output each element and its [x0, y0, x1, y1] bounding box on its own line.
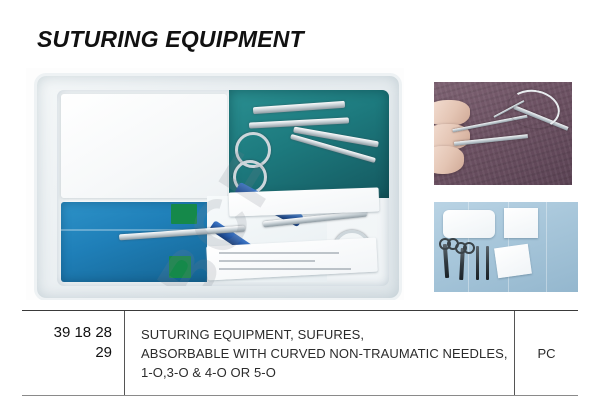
page-title: SUTURING EQUIPMENT: [37, 26, 304, 53]
description-line-3: 1-O,3-O & 4-O OR 5-O: [141, 363, 514, 382]
table-bottom-rule: [22, 395, 578, 396]
tray-shell: BCF: [34, 73, 402, 300]
kidney-dish: [443, 210, 495, 238]
gauze-square-lower: [494, 244, 532, 278]
scissors-ring-2b: [463, 242, 475, 254]
gauze-pad: [61, 94, 227, 198]
description-line-1: SUTURING EQUIPMENT, SUFURES,: [141, 325, 514, 344]
table-row: 39 18 28 29 SUTURING EQUIPMENT, SUFURES,…: [22, 311, 578, 395]
description-cell: SUTURING EQUIPMENT, SUFURES, ABSORBABLE …: [125, 311, 515, 395]
code-line-1: 39 18 28: [22, 323, 112, 343]
suturing-demonstration-photo: [434, 82, 572, 185]
forceps-2: [486, 246, 489, 280]
packet-text-line-1: [219, 252, 339, 254]
code-cell: 39 18 28 29: [22, 311, 125, 395]
indicator-chip-upper: [171, 204, 197, 224]
description-line-2: ABSORBABLE WITH CURVED NON-TRAUMATIC NEE…: [141, 344, 514, 363]
gauze-square-upper: [504, 208, 538, 238]
finger-upper: [434, 100, 470, 126]
packet-text-line-3: [219, 268, 351, 270]
blue-drape: [61, 202, 227, 282]
suture-set-layout-photo: [434, 202, 578, 292]
packet-text-line-2: [219, 260, 315, 262]
sterile-suture-tray-photo: BCF: [26, 68, 404, 300]
code-line-2: 29: [22, 343, 112, 363]
figure-area: BCF: [0, 62, 600, 302]
specification-table: 39 18 28 29 SUTURING EQUIPMENT, SUFURES,…: [22, 310, 578, 396]
drape-fold-3: [546, 202, 547, 292]
unit-label: PC: [537, 346, 555, 361]
forceps-1: [476, 246, 479, 280]
indicator-chip-lower: [169, 256, 191, 278]
tray-inner: BCF: [57, 90, 389, 286]
unit-cell: PC: [515, 311, 578, 395]
